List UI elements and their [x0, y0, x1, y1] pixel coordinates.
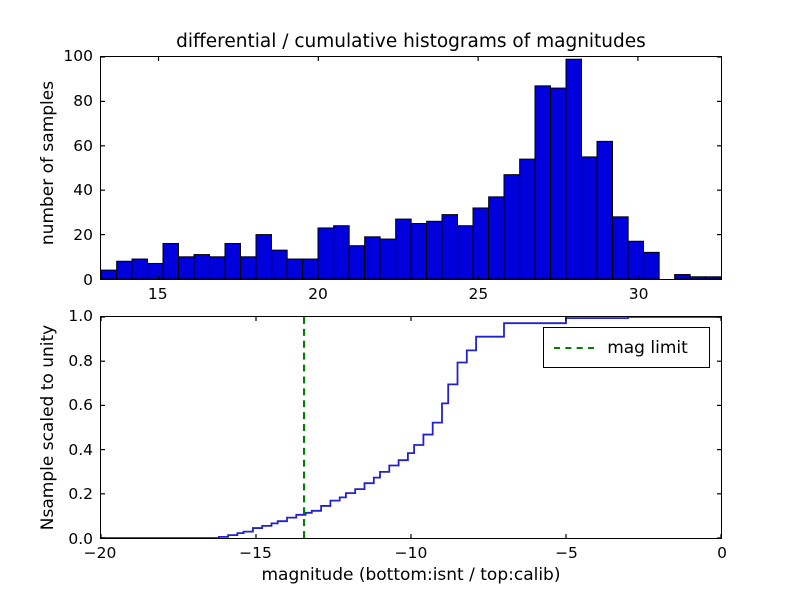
histogram-bar [520, 159, 536, 279]
histogram-bar [256, 235, 272, 279]
histogram-bar [458, 226, 474, 279]
bottom-ytick-label-2: 0.4 [68, 441, 93, 459]
bottom-ytick-label-3: 0.6 [68, 396, 93, 414]
histogram-bar [210, 257, 226, 279]
top-ytick-label-2: 40 [73, 181, 93, 199]
histogram-bar [272, 250, 288, 279]
histogram-bar [380, 239, 395, 279]
histogram-bar [334, 226, 350, 279]
figure-xlabel: magnitude (bottom:isnt / top:calib) [100, 565, 722, 585]
histogram-bar [179, 257, 195, 279]
bottom-ytick-label-5: 1.0 [68, 307, 93, 325]
top-ytick-label-1: 20 [73, 226, 93, 244]
histogram-bar [442, 215, 458, 279]
top-xtick-label-1: 20 [308, 285, 328, 303]
bottom-xtick-label-3: −5 [555, 544, 578, 562]
histogram-bar [287, 259, 303, 279]
bottom-xtick-label-0: −20 [84, 544, 117, 562]
histogram-bar [349, 246, 365, 279]
top-xtick-label-3: 30 [629, 285, 649, 303]
bottom-xtick-label-4: 0 [717, 544, 727, 562]
legend-label-mag-limit: mag limit [594, 338, 699, 358]
top-ytick-label-5: 100 [63, 47, 93, 65]
histogram-bar [318, 228, 334, 279]
histogram-bar [117, 261, 133, 279]
histogram-bar [535, 86, 551, 279]
top-ytick-label-0: 0 [83, 271, 93, 289]
top-panel-axes [100, 56, 722, 280]
bottom-ytick-label-4: 0.8 [68, 352, 93, 370]
histogram-bar [489, 197, 505, 279]
figure-title: differential / cumulative histograms of … [100, 31, 722, 52]
histogram-bar [194, 255, 210, 279]
histogram-bar [101, 270, 117, 279]
figure-canvas: differential / cumulative histograms of … [0, 0, 800, 600]
histogram-bar [675, 275, 691, 279]
bottom-ytick-label-1: 0.2 [68, 485, 93, 503]
histogram-bar [690, 277, 706, 279]
histogram-bar [225, 243, 241, 279]
histogram-bar [551, 88, 566, 279]
top-xtick-label-0: 15 [148, 285, 168, 303]
histogram-bar [241, 257, 257, 279]
histogram-plot [101, 57, 721, 279]
histogram-bar [613, 217, 629, 279]
histogram-bar [566, 59, 582, 279]
histogram-bar [303, 259, 319, 279]
histogram-bar [163, 243, 179, 279]
histogram-bar [504, 175, 520, 279]
histogram-bar [365, 237, 381, 279]
histogram-bar [427, 221, 442, 279]
top-panel-ylabel: number of samples [38, 51, 58, 275]
top-ytick-label-3: 60 [73, 137, 93, 155]
histogram-bars [101, 59, 721, 279]
histogram-bar [628, 241, 644, 279]
top-ytick-label-4: 80 [73, 92, 93, 110]
histogram-bar [644, 252, 659, 279]
histogram-bar [396, 219, 411, 279]
histogram-bar [582, 157, 597, 279]
histogram-bar [473, 208, 489, 279]
bottom-xtick-label-1: −15 [239, 544, 272, 562]
histogram-bar [411, 224, 427, 280]
top-xtick-label-2: 25 [468, 285, 488, 303]
histogram-bar [132, 259, 148, 279]
legend-box: mag limit [543, 327, 710, 368]
histogram-bar [597, 141, 613, 279]
histogram-bar [148, 263, 164, 279]
legend-dashed-line-icon [554, 347, 594, 349]
bottom-xtick-label-2: −10 [395, 544, 428, 562]
bottom-panel-ylabel: Nsample scaled to unity [38, 316, 58, 539]
